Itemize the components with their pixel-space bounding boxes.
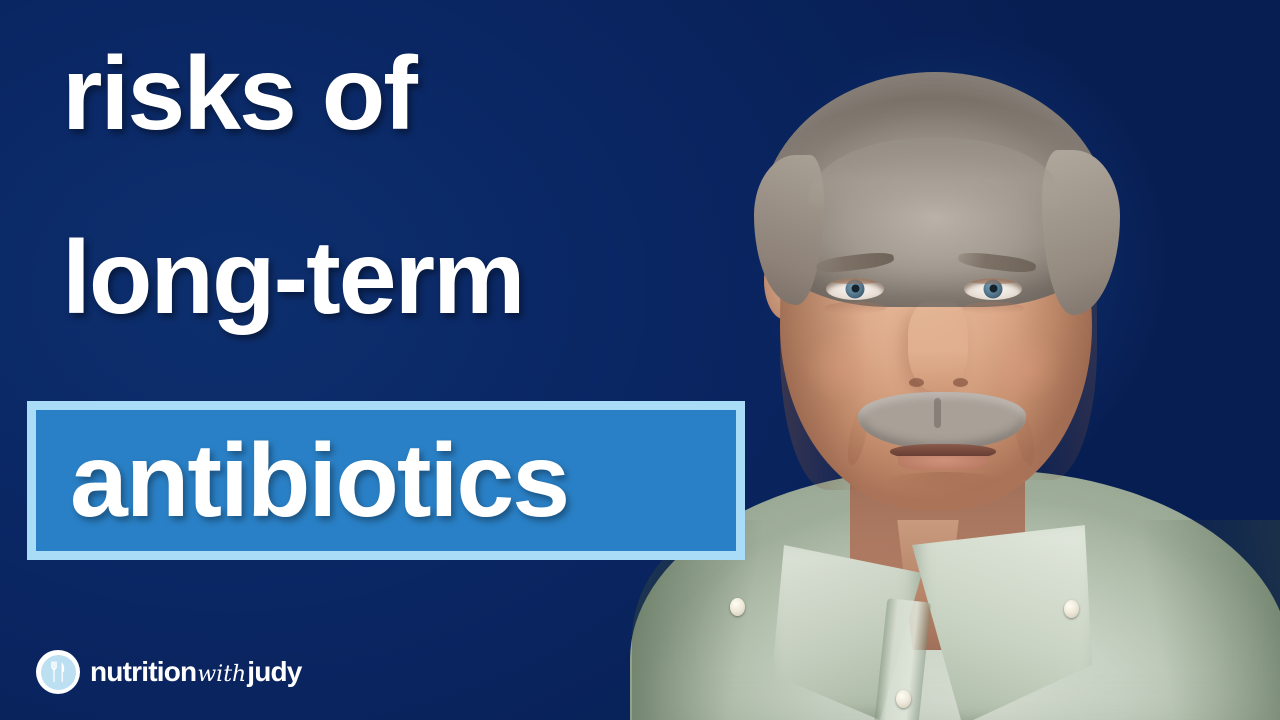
eyelid-right — [964, 278, 1022, 284]
lower-lip — [898, 456, 988, 471]
cheek-right — [992, 330, 1062, 404]
brand-wordmark: nutrition with judy — [90, 658, 302, 686]
logo-inner-circle — [41, 655, 76, 690]
collar-button-left — [730, 598, 745, 616]
shirt-shadow-right — [1112, 520, 1280, 720]
collar-button-right — [1064, 600, 1079, 618]
brand-name-with: with — [196, 664, 247, 686]
under-eye-left — [824, 302, 886, 314]
nostril-right — [953, 378, 968, 387]
nostril-left — [909, 378, 924, 387]
headline-line-2: long-term — [62, 226, 762, 330]
brand-logo: nutrition with judy — [36, 650, 302, 694]
shirt-button — [896, 690, 911, 708]
cheek-left — [804, 330, 874, 404]
brand-name-judy: judy — [247, 658, 301, 686]
headline: risks of long-term — [62, 42, 762, 330]
mustache-center-part — [934, 398, 941, 428]
headline-line-1: risks of — [62, 42, 762, 146]
pupil-left — [851, 285, 859, 293]
chin-shadow — [880, 472, 1008, 498]
under-eye-right — [962, 302, 1024, 314]
pupil-right — [989, 285, 997, 293]
video-thumbnail: risks of long-term antibiotics nutrition… — [0, 0, 1280, 720]
brand-name-nutrition: nutrition — [90, 658, 196, 686]
cutlery-icon — [45, 659, 71, 685]
fork-and-knife-circle-icon — [36, 650, 80, 694]
eye-right — [964, 278, 1022, 300]
eyelid-left — [826, 278, 884, 284]
highlight-box: antibiotics — [27, 401, 745, 560]
highlight-text: antibiotics — [70, 429, 568, 533]
eye-left — [826, 278, 884, 300]
